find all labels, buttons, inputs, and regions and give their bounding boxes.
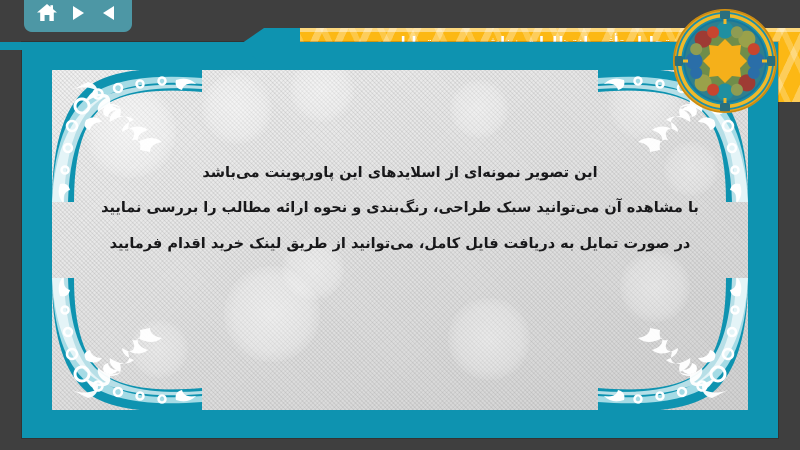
slide-viewer: این تصویر نمونه‌ای از اسلایدهای این پاور… bbox=[0, 0, 800, 450]
home-icon bbox=[36, 2, 58, 24]
slide-canvas: این تصویر نمونه‌ای از اسلایدهای این پاور… bbox=[52, 70, 748, 410]
bokeh-circle bbox=[448, 298, 530, 380]
previous-slide-button[interactable] bbox=[96, 0, 122, 26]
body-line-3: در صورت تمایل به دریافت فایل کامل، می‌تو… bbox=[98, 227, 702, 262]
bokeh-circle bbox=[202, 74, 272, 144]
body-line-2: با مشاهده آن می‌توانید سبک طراحی، رنگ‌بن… bbox=[98, 191, 702, 226]
bokeh-circle bbox=[450, 80, 508, 138]
slide-navigation-bar bbox=[24, 0, 132, 32]
home-button[interactable] bbox=[34, 0, 60, 26]
body-line-1: این تصویر نمونه‌ای از اسلایدهای این پاور… bbox=[98, 156, 702, 191]
slide-body-text: این تصویر نمونه‌ای از اسلایدهای این پاور… bbox=[52, 156, 748, 262]
ornamental-medallion bbox=[672, 8, 778, 114]
bokeh-circle bbox=[620, 252, 690, 322]
bokeh-circle bbox=[130, 320, 188, 378]
slide-frame: این تصویر نمونه‌ای از اسلایدهای این پاور… bbox=[22, 42, 778, 438]
triangle-right-icon bbox=[68, 3, 88, 23]
next-slide-button[interactable] bbox=[65, 0, 91, 26]
triangle-left-icon bbox=[99, 3, 119, 23]
